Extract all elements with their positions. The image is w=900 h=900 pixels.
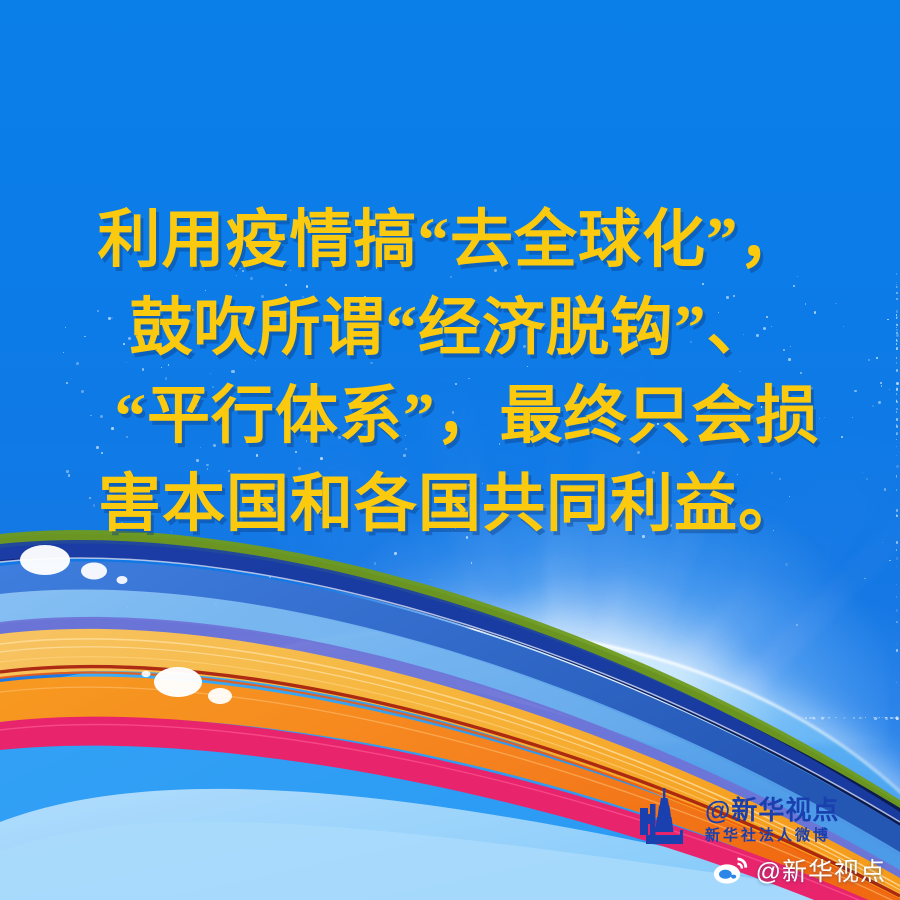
brand-handle: @新华视点 bbox=[705, 797, 839, 823]
star-particle bbox=[886, 717, 887, 718]
star-particle bbox=[752, 717, 754, 719]
star-particle bbox=[875, 717, 876, 718]
star-particle bbox=[136, 717, 138, 719]
star-particle bbox=[896, 717, 899, 720]
star-particle bbox=[261, 717, 263, 719]
star-particle bbox=[756, 717, 759, 720]
star-particle bbox=[896, 717, 898, 719]
star-particle bbox=[210, 717, 211, 718]
star-particle bbox=[173, 717, 175, 719]
star-particle bbox=[805, 717, 807, 719]
star-particle bbox=[70, 717, 72, 719]
watermark-handle: @新华视点 bbox=[756, 852, 886, 888]
star-particle bbox=[742, 717, 743, 718]
star-particle bbox=[896, 682, 898, 684]
star-particle bbox=[176, 717, 179, 720]
star-particle bbox=[810, 717, 812, 719]
star-particle bbox=[896, 717, 897, 718]
star-particle bbox=[267, 717, 268, 718]
star-particle bbox=[896, 609, 899, 612]
sun-ray bbox=[555, 590, 608, 778]
star-particle bbox=[302, 717, 304, 719]
star-particle bbox=[896, 717, 897, 718]
star-particle bbox=[896, 717, 898, 719]
star-particle bbox=[873, 717, 874, 718]
star-particle bbox=[687, 717, 690, 720]
star-particle bbox=[104, 717, 105, 718]
star-particle bbox=[821, 717, 823, 719]
star-particle bbox=[692, 717, 695, 720]
star-particle bbox=[113, 608, 114, 609]
sun-ray bbox=[557, 617, 664, 785]
star-particle bbox=[74, 717, 76, 719]
star-particle bbox=[896, 717, 898, 719]
star-particle bbox=[507, 717, 508, 718]
headline-line-1: 利用疫情搞“去全球化”， bbox=[0, 196, 900, 284]
star-particle bbox=[344, 717, 347, 720]
star-particle bbox=[896, 717, 898, 719]
star-particle bbox=[269, 576, 271, 578]
star-particle bbox=[378, 717, 381, 720]
xinhua-brand-lockup: @新华视点 新华社法人微博 bbox=[636, 786, 839, 853]
star-particle bbox=[874, 717, 877, 720]
star-particle bbox=[206, 576, 208, 578]
star-particle bbox=[673, 717, 675, 719]
star-particle bbox=[132, 717, 134, 719]
star-particle bbox=[896, 717, 898, 719]
star-particle bbox=[736, 717, 739, 720]
star-particle bbox=[896, 717, 898, 719]
star-particle bbox=[399, 717, 400, 718]
star-particle bbox=[896, 717, 897, 718]
star-particle bbox=[389, 717, 392, 720]
star-particle bbox=[84, 717, 87, 720]
star-particle bbox=[812, 717, 815, 720]
star-particle bbox=[430, 717, 432, 719]
sun-ray bbox=[424, 543, 593, 787]
star-particle bbox=[241, 717, 243, 719]
star-particle bbox=[314, 717, 315, 718]
star-particle bbox=[802, 717, 803, 718]
star-particle bbox=[896, 717, 899, 720]
star-particle bbox=[896, 566, 897, 567]
star-particle bbox=[896, 717, 898, 719]
star-particle bbox=[896, 717, 899, 720]
star-particle bbox=[896, 557, 899, 560]
star-particle bbox=[896, 717, 898, 719]
star-particle bbox=[896, 717, 897, 718]
star-particle bbox=[692, 717, 694, 719]
star-particle bbox=[86, 717, 89, 720]
star-particle bbox=[343, 717, 345, 719]
star-particle bbox=[691, 717, 692, 718]
star-particle bbox=[86, 717, 88, 719]
star-particle bbox=[835, 717, 837, 719]
star-particle bbox=[315, 717, 317, 719]
star-particle bbox=[419, 717, 421, 719]
star-particle bbox=[896, 549, 898, 551]
star-particle bbox=[703, 717, 705, 719]
star-particle bbox=[92, 717, 94, 719]
star-particle bbox=[860, 717, 863, 720]
headline-text: 利用疫情搞“去全球化”， 鼓吹所谓“经济脱钩”、 “平行体系”，最终只会损 害本… bbox=[0, 196, 900, 548]
star-particle bbox=[896, 717, 898, 719]
star-particle bbox=[261, 717, 263, 719]
star-particle bbox=[337, 717, 340, 720]
star-particle bbox=[865, 717, 866, 718]
star-particle bbox=[281, 717, 284, 720]
headline-line-4: 害本国和各国共同利益。 bbox=[0, 460, 900, 548]
sun-ray bbox=[556, 524, 674, 784]
star-particle bbox=[792, 717, 793, 718]
star-particle bbox=[179, 717, 181, 719]
star-particle bbox=[285, 717, 286, 718]
star-particle bbox=[179, 717, 181, 719]
star-particle bbox=[446, 717, 449, 720]
star-particle bbox=[354, 717, 356, 719]
star-particle bbox=[896, 717, 897, 718]
weibo-watermark: @新华视点 bbox=[713, 852, 886, 888]
star-particle bbox=[629, 717, 630, 718]
star-particle bbox=[896, 717, 899, 720]
star-particle bbox=[257, 717, 258, 718]
star-particle bbox=[224, 717, 226, 719]
star-particle bbox=[430, 579, 431, 580]
star-particle bbox=[137, 570, 138, 571]
star-particle bbox=[896, 717, 897, 718]
star-particle bbox=[290, 717, 293, 720]
star-particle bbox=[896, 717, 897, 718]
star-particle bbox=[401, 717, 404, 720]
star-particle bbox=[853, 717, 855, 719]
star-particle bbox=[299, 717, 302, 720]
star-particle bbox=[796, 624, 798, 626]
xinhua-tower-icon bbox=[636, 786, 694, 853]
star-particle bbox=[77, 717, 78, 718]
star-particle bbox=[120, 717, 123, 720]
star-particle bbox=[338, 717, 340, 719]
sun-ray bbox=[558, 594, 700, 788]
star-particle bbox=[288, 717, 290, 719]
star-particle bbox=[890, 717, 892, 719]
star-particle bbox=[896, 717, 898, 719]
star-particle bbox=[136, 717, 138, 719]
star-particle bbox=[896, 717, 898, 719]
star-particle bbox=[663, 717, 665, 719]
star-particle bbox=[168, 717, 170, 719]
star-particle bbox=[214, 602, 217, 605]
star-particle bbox=[289, 717, 291, 719]
star-particle bbox=[211, 717, 213, 719]
star-particle bbox=[896, 717, 898, 719]
star-particle bbox=[823, 717, 824, 718]
star-particle bbox=[244, 717, 245, 718]
star-particle bbox=[126, 606, 129, 609]
poster-canvas: 利用疫情搞“去全球化”， 鼓吹所谓“经济脱钩”、 “平行体系”，最终只会损 害本… bbox=[0, 0, 900, 900]
star-particle bbox=[197, 717, 200, 720]
star-particle bbox=[896, 717, 897, 718]
star-particle bbox=[895, 717, 897, 719]
sun-ray bbox=[445, 669, 588, 793]
star-particle bbox=[896, 717, 898, 719]
star-particle bbox=[821, 717, 823, 719]
star-particle bbox=[505, 717, 508, 720]
star-particle bbox=[388, 717, 391, 720]
star-particle bbox=[624, 717, 625, 718]
sun-ray bbox=[496, 575, 594, 783]
star-particle bbox=[896, 716, 899, 719]
star-particle bbox=[66, 636, 69, 639]
star-particle bbox=[374, 562, 377, 565]
star-particle bbox=[154, 717, 156, 719]
headline-line-2: 鼓吹所谓“经济脱钩”、 bbox=[0, 284, 900, 372]
star-particle bbox=[450, 717, 451, 718]
star-particle bbox=[896, 717, 898, 719]
star-particle bbox=[94, 717, 96, 719]
star-particle bbox=[843, 717, 845, 719]
star-particle bbox=[896, 717, 898, 719]
star-particle bbox=[896, 717, 899, 720]
star-particle bbox=[216, 717, 218, 719]
star-particle bbox=[896, 717, 897, 718]
star-particle bbox=[758, 717, 759, 718]
star-particle bbox=[80, 717, 82, 719]
star-particle bbox=[156, 558, 158, 560]
star-particle bbox=[313, 717, 315, 719]
star-particle bbox=[280, 717, 281, 718]
star-particle bbox=[859, 717, 861, 719]
star-particle bbox=[664, 717, 666, 719]
star-particle bbox=[896, 717, 898, 719]
star-particle bbox=[896, 717, 897, 718]
star-particle bbox=[895, 717, 897, 719]
star-particle bbox=[278, 717, 281, 720]
star-particle bbox=[168, 653, 170, 655]
star-particle bbox=[896, 717, 899, 720]
star-particle bbox=[414, 717, 415, 718]
star-particle bbox=[885, 717, 886, 718]
star-particle bbox=[188, 717, 190, 719]
star-particle bbox=[896, 717, 897, 718]
star-particle bbox=[67, 717, 68, 718]
star-particle bbox=[261, 717, 262, 718]
star-particle bbox=[330, 566, 333, 569]
star-particle bbox=[896, 717, 897, 718]
star-particle bbox=[491, 717, 494, 720]
star-particle bbox=[889, 560, 891, 562]
star-particle bbox=[896, 717, 899, 720]
star-particle bbox=[115, 717, 116, 718]
star-particle bbox=[324, 717, 326, 719]
star-particle bbox=[896, 717, 899, 720]
star-particle bbox=[225, 717, 227, 719]
star-particle bbox=[799, 717, 801, 719]
star-particle bbox=[785, 563, 788, 566]
sun-ray bbox=[556, 555, 638, 782]
star-particle bbox=[896, 649, 899, 652]
sun-ray bbox=[429, 631, 590, 792]
star-particle bbox=[249, 717, 251, 719]
star-particle bbox=[828, 717, 830, 719]
star-particle bbox=[793, 717, 795, 719]
star-particle bbox=[710, 717, 712, 719]
star-particle bbox=[756, 717, 758, 719]
star-particle bbox=[367, 644, 368, 645]
star-particle bbox=[239, 717, 242, 720]
star-particle bbox=[496, 717, 499, 720]
star-particle bbox=[896, 717, 898, 719]
star-particle bbox=[85, 717, 88, 720]
star-particle bbox=[538, 717, 540, 719]
star-particle bbox=[896, 717, 898, 719]
star-particle bbox=[395, 717, 396, 718]
star-particle bbox=[828, 717, 830, 719]
star-particle bbox=[264, 717, 265, 718]
sun-ray bbox=[561, 570, 789, 792]
star-particle bbox=[884, 717, 885, 718]
star-particle bbox=[766, 717, 769, 720]
star-particle bbox=[471, 562, 472, 563]
star-particle bbox=[305, 591, 307, 593]
star-particle bbox=[227, 717, 229, 719]
star-particle bbox=[270, 717, 273, 720]
star-particle bbox=[896, 717, 899, 720]
sun-ray bbox=[514, 535, 595, 780]
star-particle bbox=[209, 717, 210, 718]
star-particle bbox=[321, 576, 323, 578]
weibo-icon bbox=[713, 855, 749, 885]
star-particle bbox=[727, 717, 730, 720]
star-particle bbox=[713, 717, 714, 718]
star-particle bbox=[473, 717, 476, 720]
star-particle bbox=[218, 717, 219, 718]
star-particle bbox=[655, 717, 656, 718]
star-particle bbox=[896, 717, 899, 720]
star-particle bbox=[896, 717, 898, 719]
star-particle bbox=[332, 717, 335, 720]
star-particle bbox=[391, 584, 393, 586]
star-particle bbox=[399, 717, 400, 718]
star-particle bbox=[453, 717, 455, 719]
star-particle bbox=[394, 552, 397, 555]
star-particle bbox=[512, 685, 514, 687]
star-particle bbox=[733, 717, 736, 720]
star-particle bbox=[896, 717, 897, 718]
headline-line-3: “平行体系”，最终只会损 bbox=[0, 372, 900, 460]
star-particle bbox=[222, 717, 225, 720]
star-particle bbox=[289, 717, 290, 718]
star-particle bbox=[896, 717, 898, 719]
star-particle bbox=[896, 717, 899, 720]
star-particle bbox=[85, 717, 87, 719]
star-particle bbox=[890, 717, 891, 718]
star-particle bbox=[896, 717, 897, 718]
star-particle bbox=[105, 717, 108, 720]
star-particle bbox=[896, 717, 899, 720]
star-particle bbox=[809, 717, 811, 719]
star-particle bbox=[181, 717, 182, 718]
star-particle bbox=[896, 717, 897, 718]
star-particle bbox=[896, 717, 898, 719]
star-particle bbox=[896, 596, 897, 597]
star-particle bbox=[181, 717, 183, 719]
sun-ray bbox=[489, 616, 594, 786]
star-particle bbox=[180, 717, 182, 719]
star-particle bbox=[813, 717, 816, 720]
star-particle bbox=[415, 717, 416, 718]
star-particle bbox=[601, 717, 603, 719]
star-particle bbox=[295, 717, 298, 720]
star-particle bbox=[64, 717, 67, 720]
star-particle bbox=[896, 717, 898, 719]
sun-ray bbox=[422, 588, 591, 789]
star-particle bbox=[896, 717, 898, 719]
star-particle bbox=[896, 717, 898, 719]
star-particle bbox=[330, 717, 331, 718]
star-particle bbox=[401, 717, 403, 719]
star-particle bbox=[877, 717, 879, 719]
star-particle bbox=[143, 717, 145, 719]
star-particle bbox=[231, 717, 234, 720]
star-particle bbox=[149, 717, 151, 719]
star-particle bbox=[257, 606, 259, 608]
star-particle bbox=[115, 717, 117, 719]
star-particle bbox=[882, 717, 883, 718]
star-particle bbox=[173, 717, 175, 719]
star-particle bbox=[896, 717, 898, 719]
brand-subtitle: 新华社法人微博 bbox=[705, 828, 839, 843]
star-particle bbox=[879, 717, 880, 718]
star-particle bbox=[896, 717, 899, 720]
star-particle bbox=[189, 717, 190, 718]
star-particle bbox=[64, 717, 67, 720]
star-particle bbox=[896, 643, 897, 644]
star-particle bbox=[244, 717, 247, 720]
star-particle bbox=[229, 717, 230, 718]
star-particle bbox=[896, 717, 899, 720]
star-particle bbox=[896, 717, 898, 719]
star-particle bbox=[195, 717, 197, 719]
star-particle bbox=[335, 717, 336, 718]
star-particle bbox=[86, 717, 88, 719]
star-particle bbox=[344, 717, 347, 720]
star-particle bbox=[885, 717, 888, 720]
star-particle bbox=[210, 717, 213, 720]
star-particle bbox=[896, 717, 897, 718]
star-particle bbox=[717, 717, 718, 718]
star-particle bbox=[896, 584, 897, 585]
star-particle bbox=[892, 717, 894, 719]
star-particle bbox=[790, 717, 793, 720]
sun-ray bbox=[560, 577, 743, 789]
star-particle bbox=[896, 717, 898, 719]
star-particle bbox=[764, 717, 767, 720]
star-particle bbox=[373, 717, 374, 718]
star-particle bbox=[864, 578, 865, 579]
star-particle bbox=[622, 717, 624, 719]
star-particle bbox=[110, 717, 111, 718]
star-particle bbox=[896, 621, 899, 624]
star-particle bbox=[865, 717, 866, 718]
star-particle bbox=[216, 717, 218, 719]
star-particle bbox=[896, 717, 899, 720]
star-particle bbox=[896, 717, 898, 719]
star-particle bbox=[710, 717, 711, 718]
star-particle bbox=[149, 717, 150, 718]
star-particle bbox=[896, 717, 898, 719]
star-particle bbox=[896, 717, 899, 720]
sun-ray bbox=[563, 650, 735, 793]
